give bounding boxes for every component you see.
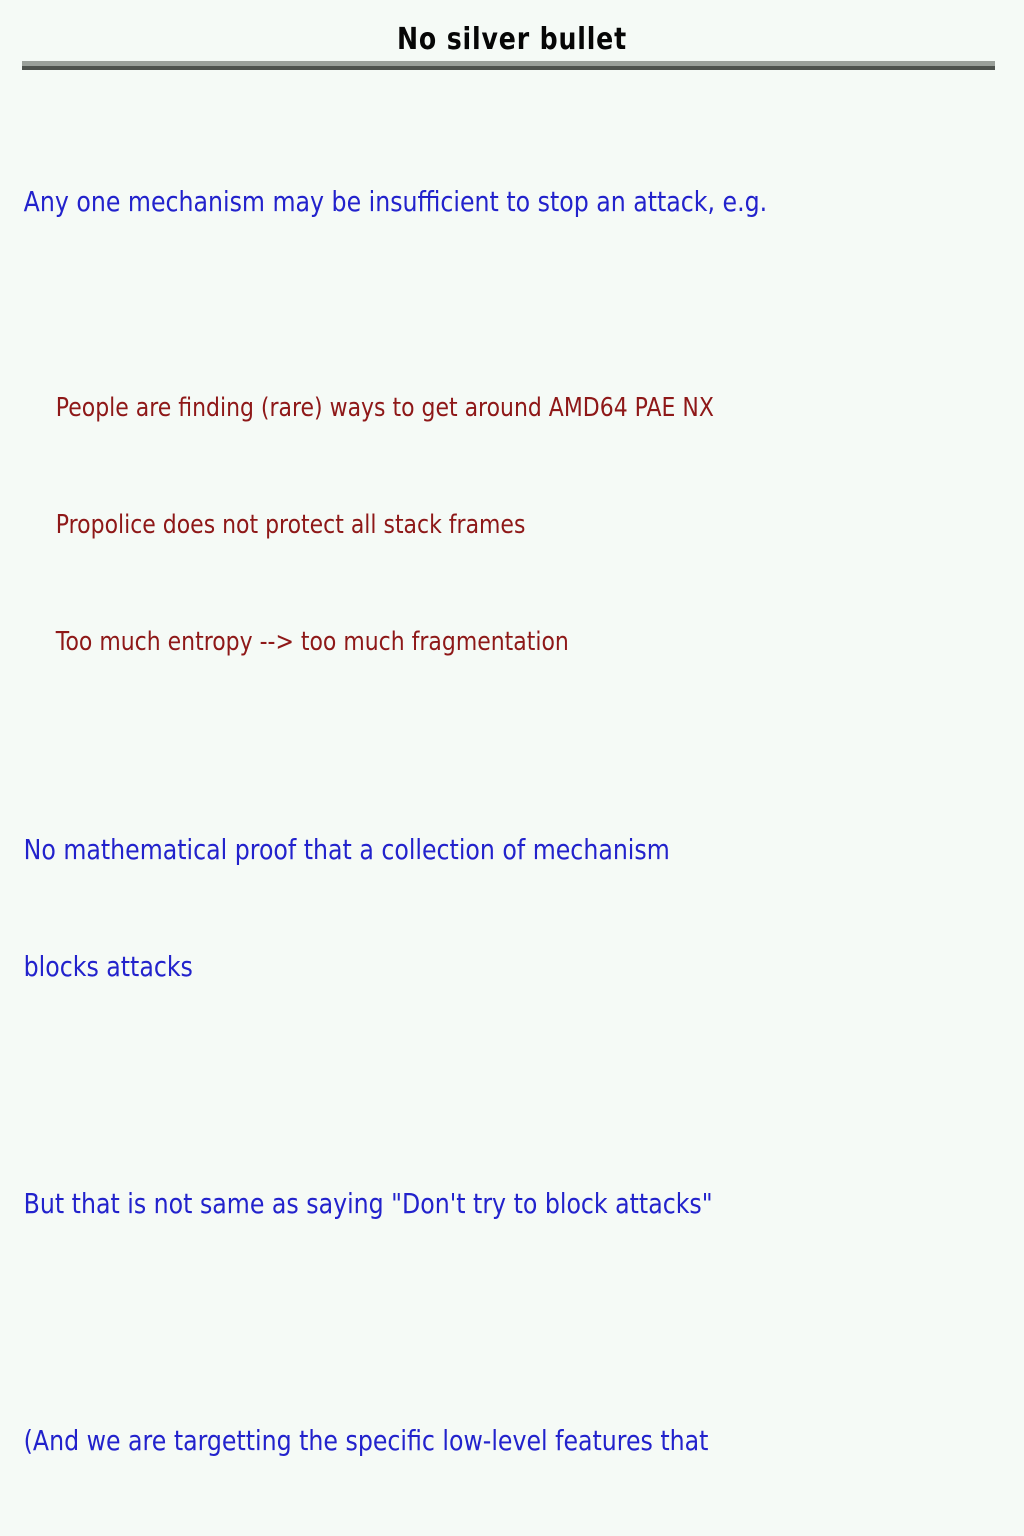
divider-dark-band bbox=[22, 66, 995, 70]
slide-body: Any one mechanism may be insufficient to… bbox=[0, 104, 1024, 1536]
spacer bbox=[0, 1064, 1024, 1106]
body-line: Too much entropy --> too much fragmentat… bbox=[56, 623, 964, 662]
body-line: Propolice does not protect all stack fra… bbox=[56, 506, 964, 545]
body-line: blocks attacks bbox=[24, 947, 964, 986]
spacer bbox=[0, 299, 1024, 311]
body-line: Any one mechanism may be insufficient to… bbox=[24, 182, 964, 221]
body-line: No mathematical proof that a collection … bbox=[24, 830, 964, 869]
spacer bbox=[0, 1301, 1024, 1343]
body-paragraph-3: No mathematical proof that a collection … bbox=[0, 752, 997, 1064]
title-divider-rule bbox=[22, 61, 995, 70]
body-paragraph-1: Any one mechanism may be insufficient to… bbox=[0, 104, 997, 299]
body-line: (And we are targetting the specific low-… bbox=[24, 1421, 964, 1460]
slide-canvas: No silver bullet Any one mechanism may b… bbox=[0, 0, 1024, 768]
page-title: No silver bullet bbox=[82, 22, 942, 58]
body-paragraph-4: But that is not same as saying "Don't tr… bbox=[0, 1106, 997, 1301]
body-line: People are finding (rare) ways to get ar… bbox=[56, 389, 964, 428]
body-paragraph-2: People are finding (rare) ways to get ar… bbox=[0, 311, 997, 740]
body-paragraph-5: (And we are targetting the specific low-… bbox=[0, 1343, 997, 1536]
body-line: But that is not same as saying "Don't tr… bbox=[24, 1184, 964, 1223]
spacer bbox=[0, 740, 1024, 752]
